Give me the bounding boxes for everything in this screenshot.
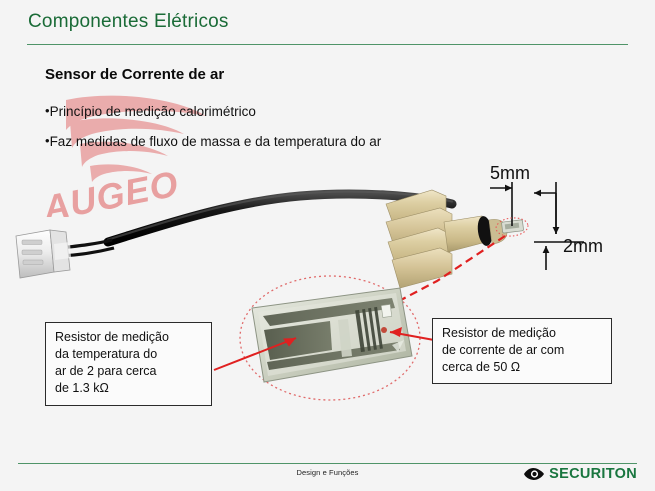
magnified-region-ellipse <box>240 276 420 400</box>
callout-line: da temperatura do <box>55 346 203 363</box>
left-callout-arrow-line <box>214 338 296 370</box>
callout-line: cerca de 50 Ω <box>442 359 603 376</box>
callout-line: de corrente de ar com <box>442 342 603 359</box>
magnified-sensor-chip <box>252 288 412 382</box>
bullet-text: Faz medidas de fluxo de massa e da tempe… <box>50 134 382 149</box>
right-callout-arrow-line <box>390 332 434 340</box>
callout-line: Resistor de medição <box>442 325 603 342</box>
sensor-housing <box>386 190 524 288</box>
svg-text:AUGEO: AUGEO <box>39 163 182 217</box>
section-heading: Sensor de Corrente de ar <box>45 66 224 83</box>
cable-connector <box>16 230 71 278</box>
callout-box-temperature-resistor: Resistor de medição da temperatura do ar… <box>45 322 212 406</box>
left-callout-arrow-head <box>283 338 296 347</box>
magnify-leader-arrow <box>363 314 376 325</box>
bullet-item: •Princípio de medição calorimétrico <box>45 103 256 119</box>
footer-divider <box>18 463 637 464</box>
dimension-annotations <box>490 182 584 270</box>
securiton-logo: SECURITON <box>523 466 637 482</box>
callout-box-current-resistor: Resistor de medição de corrente de ar co… <box>432 318 612 384</box>
dimension-label-5mm: 5mm <box>490 163 530 183</box>
eye-icon <box>523 467 545 481</box>
bullet-item: •Faz medidas de fluxo de massa e da temp… <box>45 133 381 149</box>
tip-highlight-ellipse <box>495 216 529 237</box>
slide: Componentes Elétricos AUGEO Sensor de Co… <box>0 0 655 491</box>
right-callout-arrow-head <box>390 327 402 337</box>
callout-line: de 1.3 kΩ <box>55 380 203 397</box>
brand-name: SECURITON <box>549 466 637 482</box>
page-title: Componentes Elétricos <box>28 11 229 33</box>
callout-line: Resistor de medição <box>55 329 203 346</box>
magnify-leader-line <box>363 236 505 320</box>
title-divider <box>27 44 628 45</box>
bullet-text: Princípio de medição calorimétrico <box>50 104 256 119</box>
callout-line: ar de 2 para cerca <box>55 363 203 380</box>
dimension-label-2mm: 2mm <box>563 236 603 256</box>
